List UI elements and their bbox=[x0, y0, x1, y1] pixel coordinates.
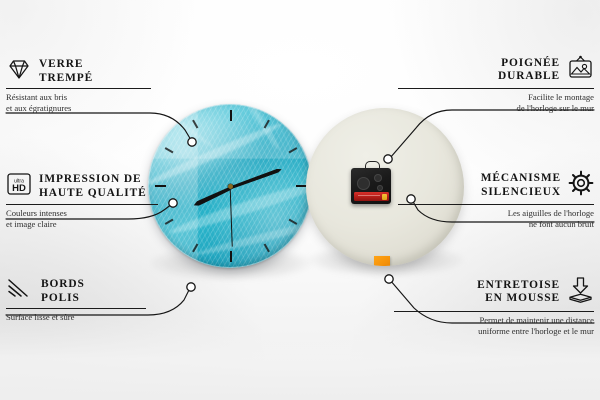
feature-entretoise-en-mousse: ENTRETOISE EN MOUSSE Permet de maintenir… bbox=[394, 276, 594, 337]
battery bbox=[354, 192, 389, 201]
feature-desc-line1: Résistant aux bris bbox=[6, 92, 202, 103]
feature-title-line2: HAUTE QUALITÉ bbox=[39, 187, 147, 200]
feature-impression-haute-qualite: ultra HD IMPRESSION DE HAUTE QUALITÉ Cou… bbox=[6, 172, 206, 230]
feature-desc-line2: de l'horloge sur le mur bbox=[398, 103, 594, 114]
picture-hanger-icon bbox=[567, 55, 594, 85]
gear-icon bbox=[568, 170, 594, 201]
feature-desc-line2: et image claire bbox=[6, 219, 206, 230]
feature-desc-line1: Facilite le montage bbox=[398, 92, 594, 103]
foam-spacer-icon bbox=[567, 276, 594, 308]
feature-rule bbox=[6, 308, 146, 309]
feature-mecanisme-silencieux: MÉCANISME SILENCIEUX Les aiguilles de l'… bbox=[398, 170, 594, 230]
feature-rule bbox=[6, 88, 151, 89]
infographic-canvas: VERRE TREMPÉ Résistant aux bris et aux é… bbox=[0, 0, 600, 400]
diamond-icon bbox=[6, 58, 32, 85]
feature-title-line1: POIGNÉE bbox=[498, 57, 560, 70]
feature-title-line2: EN MOUSSE bbox=[477, 292, 560, 305]
feature-title-line1: MÉCANISME bbox=[481, 172, 561, 185]
svg-text:HD: HD bbox=[12, 183, 26, 194]
polished-edges-icon bbox=[6, 278, 34, 305]
feature-desc-line2: et aux égratignures bbox=[6, 103, 202, 114]
feature-rule bbox=[398, 88, 594, 89]
feature-title-line2: SILENCIEUX bbox=[481, 186, 561, 199]
feature-desc-line2: uniforme entre l'horloge et le mur bbox=[394, 326, 594, 337]
feature-desc-line1: Surface lisse et sûre bbox=[6, 312, 196, 323]
feature-verre-trempe: VERRE TREMPÉ Résistant aux bris et aux é… bbox=[6, 58, 202, 114]
connector-dot-entretoise bbox=[385, 275, 393, 283]
feature-desc-line1: Les aiguilles de l'horloge bbox=[398, 208, 594, 219]
hands-center-cap bbox=[228, 184, 233, 189]
feature-title-line1: VERRE bbox=[39, 58, 93, 71]
feature-title-line1: IMPRESSION DE bbox=[39, 173, 147, 186]
feature-title-line2: POLIS bbox=[41, 292, 85, 305]
feature-title-line1: BORDS bbox=[41, 278, 85, 291]
feature-title-line1: ENTRETOISE bbox=[477, 279, 560, 292]
feature-desc-line2: ne font aucun bruit bbox=[398, 219, 594, 230]
feature-bords-polis: BORDS POLIS Surface lisse et sûre bbox=[6, 278, 196, 323]
hanger-loop-icon bbox=[365, 161, 380, 171]
feature-poignee-durable: POIGNÉE DURABLE Facilite le montage de l… bbox=[398, 55, 594, 114]
feature-title-line2: DURABLE bbox=[498, 70, 560, 83]
ultra-hd-icon: ultra HD bbox=[6, 172, 32, 201]
foam-spacer bbox=[374, 256, 390, 266]
feature-rule bbox=[394, 311, 594, 312]
feature-desc-line1: Couleurs intenses bbox=[6, 208, 206, 219]
quartz-movement bbox=[351, 168, 391, 204]
feature-desc-line1: Permet de maintenir une distance bbox=[394, 315, 594, 326]
feature-rule bbox=[6, 204, 158, 205]
feature-rule bbox=[398, 204, 594, 205]
feature-title-line2: TREMPÉ bbox=[39, 72, 93, 85]
